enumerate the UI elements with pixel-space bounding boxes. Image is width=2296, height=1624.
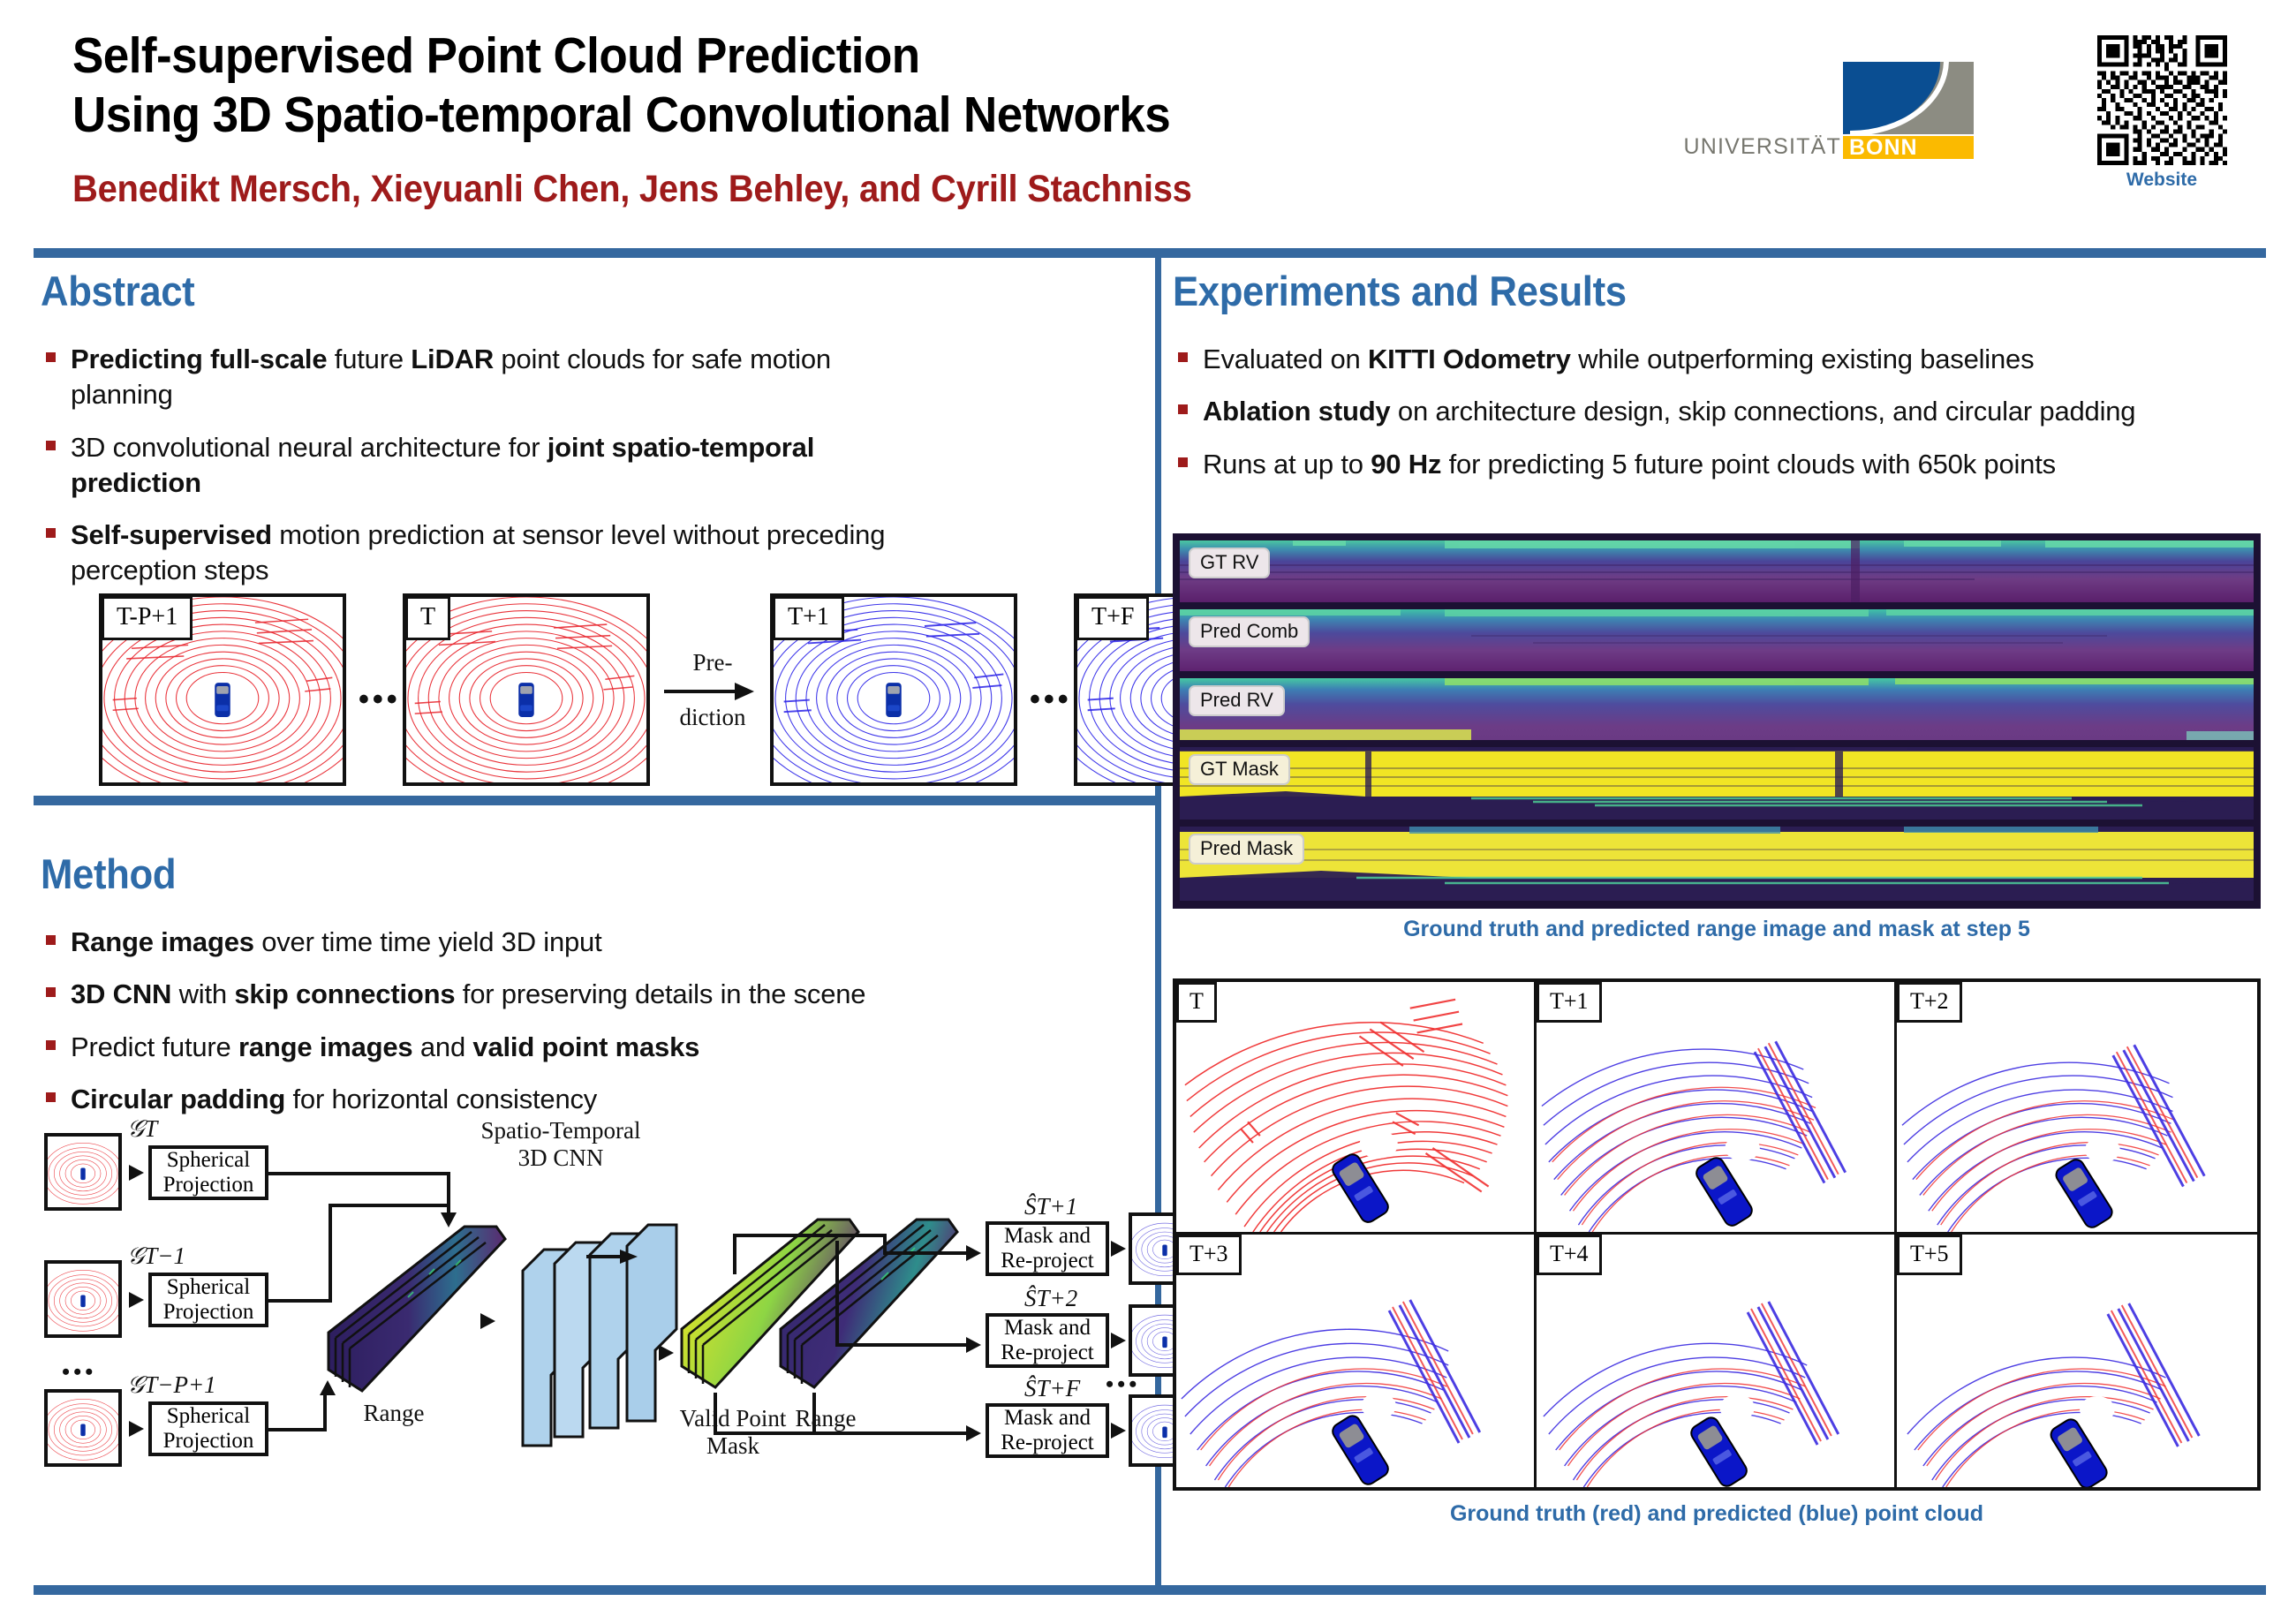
experiments-section: Experiments and Results Evaluated on KIT…	[1173, 267, 2268, 499]
cell-tag: T+1	[1537, 982, 1602, 1023]
arrow-right-icon	[966, 1337, 981, 1353]
grid-cell: T+2	[1897, 982, 2257, 1235]
body-text: and	[412, 1031, 472, 1062]
body-text: Predict future	[71, 1031, 238, 1062]
point-cloud-panel: T-P+1	[99, 593, 346, 786]
arrow-right-icon	[966, 1245, 981, 1261]
scan-gt-only-icon	[1176, 982, 1534, 1232]
method-bullet-item: 3D CNN with skip connections for preserv…	[41, 977, 1030, 1012]
body-text: for predicting 5 future point clouds wit…	[1441, 449, 2056, 480]
method-bullet-item: Predict future range images and valid po…	[41, 1030, 1030, 1065]
spherical-projection-block: Spherical Projection	[148, 1401, 268, 1456]
connector	[268, 1172, 450, 1175]
ellipsis-between-inputs: •••	[359, 684, 401, 714]
arrow-right-icon	[480, 1313, 495, 1329]
strip-tag: GT Mask	[1189, 754, 1290, 785]
range-image-gt-rv	[1180, 540, 2254, 602]
body-text: 3D convolutional neural architecture for	[71, 432, 548, 463]
emphasis-text: LiDAR	[411, 344, 494, 374]
input-ellipsis: •••	[62, 1361, 96, 1384]
emphasis-text: range images	[238, 1031, 412, 1062]
cell-tag: T+5	[1897, 1235, 1962, 1275]
block-line-2: Projection	[163, 1300, 254, 1325]
input-label-t-p-1: 𝒢T−P+1	[127, 1371, 216, 1399]
point-cloud-panel: T+1	[770, 593, 1017, 786]
divider-top	[34, 248, 2266, 258]
cell-tag: T	[1176, 982, 1217, 1023]
arrow-right-icon	[1111, 1241, 1126, 1257]
range-strip: Pred RV	[1180, 678, 2254, 740]
method-bullet-list: Range images over time time yield 3D inp…	[41, 925, 1030, 1117]
divider-bottom	[34, 1585, 2266, 1595]
block-line-1: Mask and	[1004, 1406, 1091, 1431]
prediction-label-bottom: diction	[664, 703, 761, 732]
arrow-right-icon	[129, 1292, 144, 1308]
qr-caption: Website	[2091, 170, 2232, 191]
experiments-bullet-item: Runs at up to 90 Hz for predicting 5 fut…	[1173, 447, 2224, 482]
qr-code-icon[interactable]	[2097, 35, 2227, 165]
poster-header: Self-supervised Point Cloud Prediction U…	[0, 0, 2296, 247]
connector	[835, 1343, 973, 1347]
method-bullet-item: Range images over time time yield 3D inp…	[41, 925, 1030, 960]
body-text: Runs at up to	[1203, 449, 1371, 480]
emphasis-text: valid point masks	[472, 1031, 699, 1062]
method-heading: Method	[41, 850, 1068, 898]
range-strip: Pred Comb	[1180, 609, 2254, 671]
connector	[883, 1251, 973, 1255]
mask-image-pred	[1180, 827, 2254, 901]
connector	[447, 1172, 450, 1218]
abstract-bullet-list: Predicting full-scale future LiDAR point…	[41, 342, 924, 589]
grid-cell: T+5	[1897, 1235, 2257, 1487]
point-cloud-comparison-grid: T	[1173, 978, 2261, 1491]
arrow-right-icon	[1111, 1333, 1126, 1348]
block-line-1: Spherical	[167, 1148, 250, 1173]
panel-tag: T+1	[773, 596, 844, 640]
connector	[329, 1204, 450, 1207]
experiments-bullet-item: Ablation study on architecture design, s…	[1173, 394, 2224, 429]
range-view-figure: GT RV Pred Comb	[1173, 533, 2261, 909]
body-text: for preserving details in the scene	[455, 978, 865, 1009]
connector	[714, 1393, 717, 1435]
arrow-right-icon	[966, 1425, 981, 1441]
block-line-2: Projection	[163, 1429, 254, 1454]
author-list: Benedikt Mersch, Xieyuanli Chen, Jens Be…	[72, 167, 1469, 213]
arrow-right-icon	[129, 1421, 144, 1437]
experiments-bullet-list: Evaluated on KITTI Odometry while outper…	[1173, 342, 2224, 482]
input-scan-thumbnail	[44, 1389, 122, 1467]
experiments-heading: Experiments and Results	[1173, 267, 2191, 315]
range-label-output: Range	[759, 1405, 892, 1432]
block-line-2: Re-project	[1001, 1431, 1094, 1455]
emphasis-text: Ablation study	[1203, 396, 1390, 427]
university-bonn-logo: UNIVERSITÄT BONN	[1696, 62, 1974, 159]
arrow-right-icon	[664, 681, 761, 700]
output-label-t-2: ŜT+2	[1024, 1285, 1077, 1312]
prediction-label-top: Pre-	[664, 648, 761, 677]
input-scan-thumbnail	[44, 1260, 122, 1338]
block-line-1: Mask and	[1004, 1316, 1091, 1341]
input-range-tensor	[323, 1221, 509, 1398]
connector	[733, 1234, 736, 1274]
arrow-right-icon	[129, 1165, 144, 1181]
cell-tag: T+3	[1176, 1235, 1242, 1275]
emphasis-text: Self-supervised	[71, 519, 272, 550]
block-line-1: Spherical	[167, 1275, 250, 1300]
abstract-bullet-item: 3D convolutional neural architecture for…	[41, 430, 924, 502]
architecture-diagram: 𝒢T 𝒢T−1 𝒢T−P+1 ••• Spherical Projection …	[35, 1108, 1139, 1514]
title-block: Self-supervised Point Cloud Prediction U…	[72, 26, 1574, 212]
experiments-bullet-item: Evaluated on KITTI Odometry while outper…	[1173, 342, 2224, 377]
panel-tag: T	[405, 596, 450, 640]
input-scan-thumbnail	[44, 1133, 122, 1211]
prediction-arrow-group: Pre- diction	[664, 648, 761, 732]
input-label-t: 𝒢T	[127, 1115, 157, 1143]
output-label-t-f: ŜT+F	[1024, 1375, 1080, 1402]
connector	[733, 1234, 887, 1237]
body-text: future	[327, 344, 411, 374]
ellipsis-between-outputs: •••	[1030, 684, 1072, 714]
point-cloud-panel: T	[403, 593, 650, 786]
body-text: on architecture design, skip connections…	[1390, 396, 2135, 427]
range-view-caption: Ground truth and predicted range image a…	[1173, 917, 2261, 942]
body-text: with	[171, 978, 234, 1009]
mask-image-gt	[1180, 747, 2254, 820]
point-cloud-caption: Ground truth (red) and predicted (blue) …	[1173, 1501, 2261, 1527]
emphasis-text: 3D CNN	[71, 978, 171, 1009]
divider-vertical	[1155, 258, 1161, 1585]
connector	[812, 1393, 816, 1435]
logo-university-text: UNIVERSITÄT	[1684, 136, 1842, 158]
mask-reproject-block: Mask and Re-project	[986, 1403, 1109, 1458]
block-line-2: Re-project	[1001, 1249, 1094, 1273]
emphasis-text: Range images	[71, 926, 254, 957]
mask-strip: GT Mask	[1180, 747, 2254, 820]
cnn-label: Spatio-Temporal 3D CNN	[459, 1117, 662, 1172]
grid-cell: T+4	[1537, 1235, 1897, 1487]
block-line-2: Projection	[163, 1173, 254, 1197]
spherical-projection-block: Spherical Projection	[148, 1145, 268, 1200]
block-line-1: Spherical	[167, 1404, 250, 1429]
title-line-1: Self-supervised Point Cloud Prediction	[72, 26, 1469, 86]
connector	[835, 1241, 839, 1347]
cnn-label-line-2: 3D CNN	[459, 1144, 662, 1172]
grid-cell: T+3	[1176, 1235, 1537, 1487]
strip-tag: GT RV	[1189, 548, 1270, 578]
panel-tag: T+F	[1076, 596, 1149, 640]
emphasis-text: KITTI Odometry	[1368, 344, 1571, 374]
arrow-right-icon	[659, 1345, 674, 1361]
strip-tag: Pred Mask	[1189, 834, 1304, 865]
block-line-2: Re-project	[1001, 1341, 1094, 1365]
website-qr-block[interactable]: Website	[2091, 35, 2232, 191]
output-label-t-1: ŜT+1	[1024, 1193, 1077, 1220]
page-title: Self-supervised Point Cloud Prediction U…	[72, 26, 1469, 146]
strip-tag: Pred RV	[1189, 685, 1285, 716]
mask-reproject-block: Mask and Re-project	[986, 1221, 1109, 1276]
grid-cell: T+1	[1537, 982, 1897, 1235]
panel-tag: T-P+1	[102, 596, 193, 640]
body-text: over time time yield 3D input	[254, 926, 602, 957]
abstract-figure: T-P+1 •••	[67, 593, 1162, 789]
mask-reproject-block: Mask and Re-project	[986, 1313, 1109, 1368]
connector	[714, 1431, 973, 1435]
abstract-bullet-item: Predicting full-scale future LiDAR point…	[41, 342, 924, 413]
lidar-scan-red-icon	[48, 1393, 118, 1463]
body-text: Evaluated on	[1203, 344, 1368, 374]
lidar-scan-red-icon	[48, 1137, 118, 1207]
cnn-label-line-1: Spatio-Temporal	[459, 1117, 662, 1144]
connector	[268, 1428, 327, 1431]
strip-tag: Pred Comb	[1189, 616, 1310, 647]
abstract-bullet-item: Self-supervised motion prediction at sen…	[41, 517, 924, 589]
spherical-projection-block: Spherical Projection	[148, 1273, 268, 1327]
mask-label-line-2: Mask	[653, 1432, 812, 1460]
range-image-pred-comb	[1180, 609, 2254, 671]
range-image-pred-rv	[1180, 678, 2254, 740]
logo-city-text: BONN	[1843, 136, 1974, 159]
mask-strip: Pred Mask	[1180, 827, 2254, 901]
range-label-input: Range	[332, 1400, 456, 1427]
output-range-tensor	[775, 1214, 961, 1400]
abstract-section: Abstract Predicting full-scale future Li…	[41, 267, 1144, 606]
cell-tag: T+4	[1537, 1235, 1602, 1275]
range-strip: GT RV	[1180, 540, 2254, 602]
input-label-t-1: 𝒢T−1	[127, 1243, 185, 1270]
arrow-right-icon	[1111, 1423, 1126, 1439]
grid-cell: T	[1176, 982, 1537, 1235]
emphasis-text: skip connections	[234, 978, 455, 1009]
title-line-2: Using 3D Spatio-temporal Convolutional N…	[72, 86, 1469, 145]
logo-mark: BONN	[1843, 62, 1974, 159]
body-text: while outperforming existing baselines	[1571, 344, 2035, 374]
lidar-scan-red-icon	[48, 1264, 118, 1334]
emphasis-text: Predicting full-scale	[71, 344, 327, 374]
cell-tag: T+2	[1897, 982, 1962, 1023]
emphasis-text: 90 Hz	[1371, 449, 1441, 480]
block-line-1: Mask and	[1004, 1224, 1091, 1249]
method-section: Method Range images over time time yield…	[41, 850, 1144, 1134]
abstract-heading: Abstract	[41, 267, 1068, 315]
